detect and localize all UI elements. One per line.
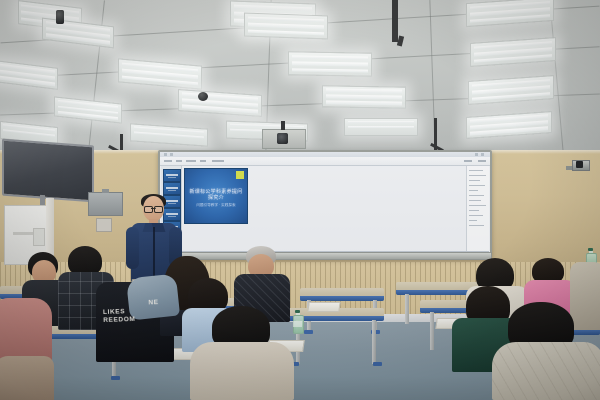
cabinet-panel: [33, 228, 45, 246]
slide-highlight-box: [236, 171, 244, 179]
ceiling-light-panel: [466, 111, 552, 139]
camera-lens-icon: [576, 161, 583, 168]
ceiling-light-panel: [466, 0, 554, 27]
student-jacket: [492, 342, 600, 400]
camera-stalk: [281, 121, 285, 130]
wall-socket: [96, 218, 112, 232]
eyeglasses-icon: [144, 206, 163, 211]
slide-title: 新课标公学科素养提问探究介: [189, 189, 243, 201]
ceiling-light-panel: [130, 123, 208, 146]
smoke-detector-icon: [56, 10, 64, 24]
cabinet-label-strip: [13, 232, 35, 235]
screen-surface: 新课标公学科素养提问探究介 问题引导教学 · 实践探索: [160, 152, 490, 257]
ceiling-projector-mount: [397, 36, 404, 47]
ceiling-camera: [262, 129, 306, 149]
ceiling-projector-mount: [392, 0, 398, 42]
control-box[interactable]: [88, 192, 123, 216]
ceiling-light-panel: [118, 58, 202, 89]
app-ribbon-toolbar[interactable]: [160, 157, 490, 166]
smoke-detector-icon: [198, 92, 208, 101]
ceiling-light-panel: [468, 75, 554, 105]
student-front-left-pink: [0, 298, 52, 400]
task-pane[interactable]: [466, 166, 489, 251]
wall-mounted-display[interactable]: [2, 139, 94, 203]
ceiling-light-panel: [344, 118, 418, 136]
ceiling-light-panel: [470, 37, 556, 67]
student-jacket: [0, 298, 52, 362]
camera-lens-icon: [277, 133, 288, 144]
slide-subtitle: 问题引导教学 · 实践探索: [191, 203, 241, 208]
ceiling-light-panel: [178, 89, 262, 117]
jacket-graphic-text: NE LIKES REEDOM: [103, 299, 162, 325]
chalkboard-assembly: 新课标公学科素养提问探究介 问题引导教学 · 实践探索: [158, 150, 492, 259]
slide-thumbnail[interactable]: [163, 182, 181, 195]
student-cream-coat: [190, 306, 294, 400]
ceiling-light-panel: [42, 18, 114, 49]
slide-thumbnail[interactable]: [163, 169, 181, 182]
notebook-paper: [307, 302, 340, 312]
ceiling-light-panel: [288, 51, 372, 76]
current-slide[interactable]: 新课标公学科素养提问探究介 问题引导教学 · 实践探索: [184, 168, 248, 224]
surveillance-camera: [566, 160, 590, 171]
ceiling-light-panel: [54, 96, 122, 123]
ceiling-light-panel: [322, 85, 406, 108]
student-jacket: [190, 342, 294, 400]
student-front-right-quilt: [492, 302, 600, 400]
ceiling-light-panel: [0, 60, 58, 90]
teacher-arm-left: [126, 227, 139, 269]
classroom-photo: 新课标公学科素养提问探究介 问题引导教学 · 实践探索: [0, 0, 600, 400]
ceiling-light-panel: [244, 13, 328, 40]
student-jacket-lower: [0, 356, 54, 400]
